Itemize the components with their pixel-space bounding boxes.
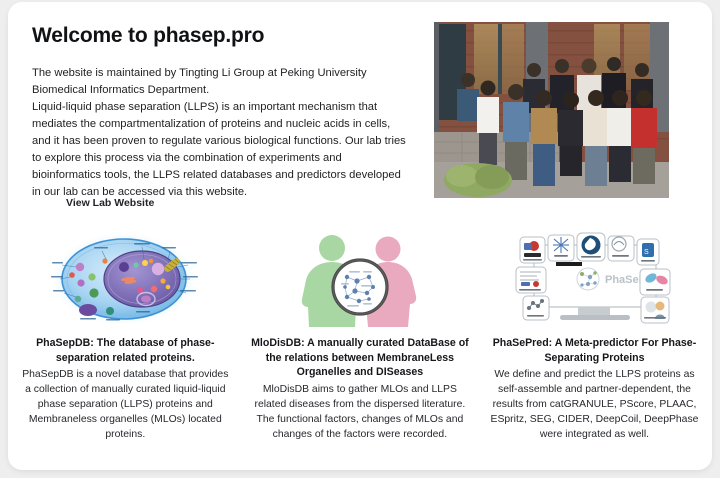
page-root: Welcome to phasep.pro The website is mai… <box>0 0 720 478</box>
content-card: Welcome to phasep.pro The website is mai… <box>8 2 712 470</box>
svg-text:S: S <box>644 249 649 256</box>
human-silhouettes-magnifier-icon <box>285 230 435 328</box>
feature-column-phasepred[interactable]: PhaSePred <box>477 230 712 442</box>
cell-diagram-icon <box>50 230 200 328</box>
feature-description: We define and predict the LLPS proteins … <box>487 367 701 442</box>
feature-title: PhaSepDB: The database of phase-separati… <box>16 336 234 365</box>
feature-column-phasepdb[interactable]: PhaSepDB: The database of phase-separati… <box>8 230 243 442</box>
lab-group-photo <box>434 22 669 198</box>
feature-description: MloDisDB aims to gather MLOs and LLPS re… <box>253 382 467 442</box>
feature-title: MloDisDB: A manually curated DataBase of… <box>251 336 469 380</box>
feature-description: PhaSepDB is a novel database that provid… <box>18 367 232 442</box>
feature-columns: PhaSepDB: The database of phase-separati… <box>8 230 712 442</box>
hero-paragraph-2: Liquid-liquid phase separation (LLPS) is… <box>32 99 407 201</box>
phasepred-monitor-icon: PhaSePred <box>510 230 678 328</box>
hero-paragraph-1: The website is maintained by Tingting Li… <box>32 65 407 99</box>
feature-column-mlodisdb[interactable]: MloDisDB: A manually curated DataBase of… <box>243 230 478 442</box>
hero-description: The website is maintained by Tingting Li… <box>32 65 407 201</box>
view-lab-website-link[interactable]: View Lab Website <box>66 197 154 209</box>
page-title: Welcome to phasep.pro <box>32 24 264 48</box>
feature-title: PhaSePred: A Meta-predictor For Phase-Se… <box>485 336 703 365</box>
